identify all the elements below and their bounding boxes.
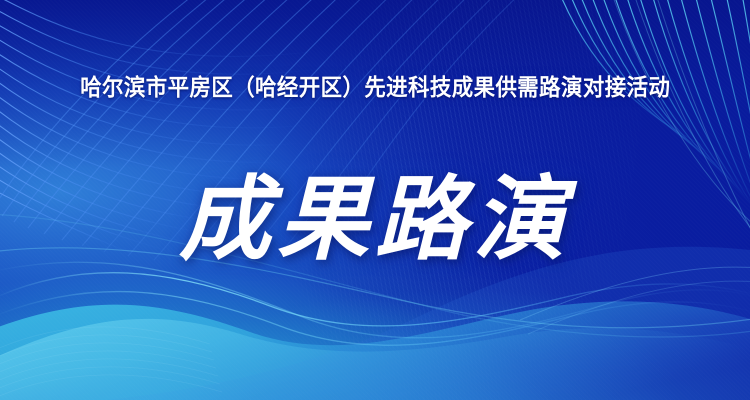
- banner-subtitle: 哈尔滨市平房区（哈经开区）先进科技成果供需路演对接活动: [80, 72, 670, 102]
- banner-title-container: 成果路演: [0, 160, 750, 280]
- banner-subtitle-container: 哈尔滨市平房区（哈经开区）先进科技成果供需路演对接活动: [0, 72, 750, 102]
- banner-title: 成果路演: [179, 160, 571, 280]
- event-banner: 哈尔滨市平房区（哈经开区）先进科技成果供需路演对接活动 成果路演: [0, 0, 750, 400]
